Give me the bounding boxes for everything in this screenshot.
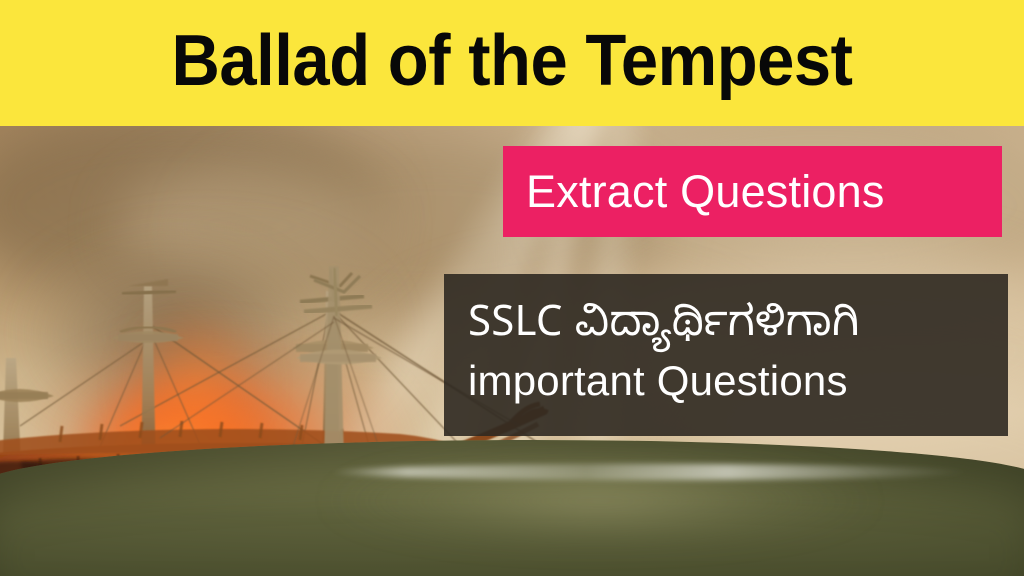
important-questions-line: important Questions — [468, 355, 1008, 406]
poster-canvas: Ballad of the Tempest Extract Questions … — [0, 0, 1024, 576]
important-questions-badge: SSLC ವಿದ್ಯಾರ್ಥಿಗಳಿಗಾಗಿ important Questio… — [444, 274, 1008, 436]
extract-questions-label: Extract Questions — [503, 169, 885, 214]
sslc-kannada-line: SSLC ವಿದ್ಯಾರ್ಥಿಗಳಿಗಾಗಿ — [468, 304, 1008, 355]
title-banner: Ballad of the Tempest — [0, 0, 1024, 126]
page-title: Ballad of the Tempest — [36, 0, 988, 126]
extract-questions-badge: Extract Questions — [503, 146, 1002, 237]
wave-foam — [330, 464, 970, 480]
